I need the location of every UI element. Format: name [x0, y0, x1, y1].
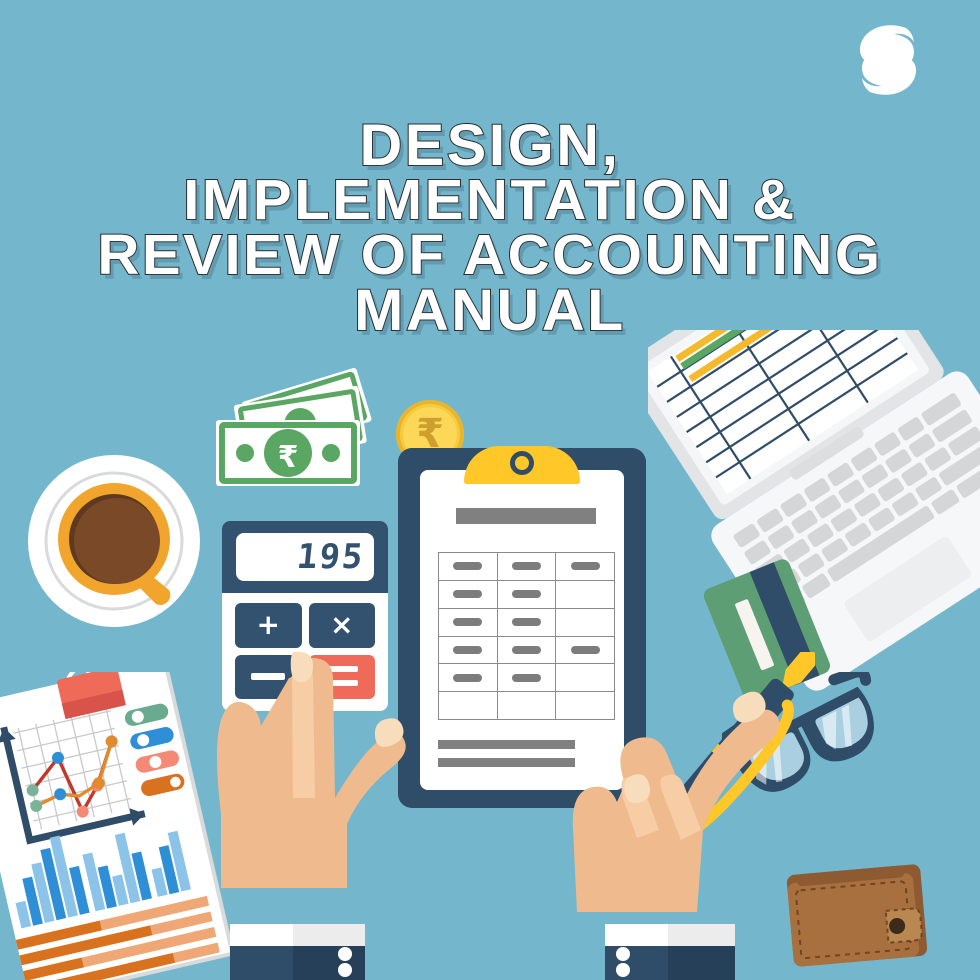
form-cell-value — [453, 590, 482, 598]
form-cell — [439, 637, 498, 665]
form-cell-value — [453, 562, 482, 570]
title-line-3: REVIEW OF ACCOUNTING — [0, 228, 980, 283]
title-line-2: IMPLEMENTATION & — [0, 173, 980, 228]
form-cell — [439, 664, 498, 692]
form-cell — [556, 553, 615, 581]
svg-text:₹: ₹ — [278, 440, 299, 475]
form-cell — [498, 692, 557, 720]
form-cell — [498, 609, 557, 637]
form-title-bar — [456, 508, 596, 524]
poster-title: DESIGN, IMPLEMENTATION & REVIEW OF ACCOU… — [0, 118, 980, 338]
clipboard-clip-hole — [510, 451, 534, 475]
form-cell-value — [453, 646, 482, 654]
form-footer-line-2 — [438, 758, 575, 767]
form-footer-line-1 — [438, 740, 575, 749]
form-cell-value — [571, 562, 600, 570]
form-cell — [439, 581, 498, 609]
right-hand-holding-pen — [565, 652, 815, 980]
form-cell-value — [512, 618, 541, 626]
calculator-display: 195 — [236, 533, 374, 581]
form-cell — [498, 637, 557, 665]
form-cell — [498, 581, 557, 609]
form-cell-value — [453, 618, 482, 626]
title-line-1: DESIGN, — [0, 118, 980, 173]
left-hand-pressing-calculator — [190, 636, 430, 980]
coffee-cup-icon — [25, 452, 203, 630]
form-cell-value — [453, 674, 482, 682]
calculator-display-value: 195 — [294, 537, 366, 577]
form-cell — [439, 553, 498, 581]
poster-canvas: DESIGN, IMPLEMENTATION & REVIEW OF ACCOU… — [0, 0, 980, 980]
form-cell — [498, 553, 557, 581]
form-cell — [556, 581, 615, 609]
stylized-s-swirl-icon — [848, 18, 928, 102]
form-cell — [556, 609, 615, 637]
form-cell — [498, 664, 557, 692]
form-cell-value — [512, 562, 541, 570]
form-cell-value — [512, 646, 541, 654]
form-cell — [439, 609, 498, 637]
form-cell-value — [512, 590, 541, 598]
brand-logo — [848, 18, 928, 102]
form-cell — [439, 692, 498, 720]
form-cell-value — [512, 674, 541, 682]
rupee-banknotes-icon: ₹ — [212, 368, 392, 498]
